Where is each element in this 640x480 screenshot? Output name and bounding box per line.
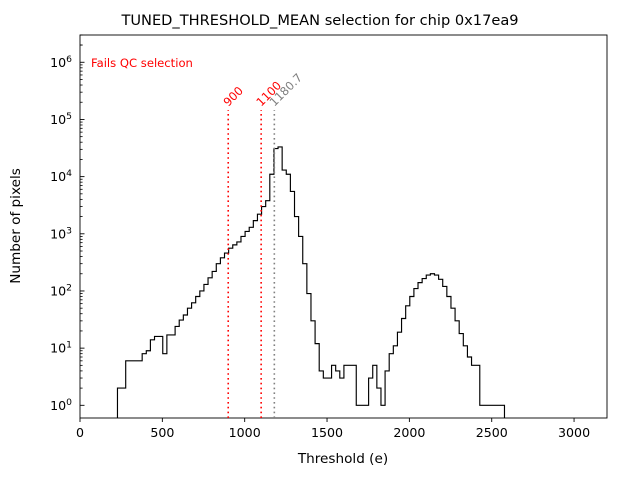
histogram-step-curve — [117, 147, 504, 418]
y-axis-ticks: 100101102103104105106 — [50, 54, 84, 413]
x-tick-label: 500 — [150, 425, 174, 440]
vertical-cut-lines: 90011001180.7 — [220, 71, 305, 418]
chart-figure: TUNED_THRESHOLD_MEAN selection for chip … — [0, 0, 640, 480]
plot-canvas: 050010001500200025003000 100101102103104… — [0, 0, 640, 480]
x-tick-label: 2500 — [476, 425, 508, 440]
y-tick-label: 105 — [50, 111, 72, 127]
x-tick-label: 2000 — [393, 425, 425, 440]
y-tick-label: 103 — [50, 225, 72, 241]
x-tick-label: 0 — [76, 425, 84, 440]
x-axis-label: Threshold (e) — [297, 451, 388, 467]
qc-annotation-text: Fails QC selection — [91, 56, 193, 70]
y-tick-label: 102 — [50, 282, 72, 298]
plot-frame — [80, 35, 607, 418]
x-axis-ticks: 050010001500200025003000 — [76, 418, 590, 440]
y-tick-label: 100 — [50, 397, 72, 413]
x-tick-label: 3000 — [558, 425, 590, 440]
vline-label-lower-cut: 900 — [220, 84, 246, 110]
y-tick-label: 104 — [50, 168, 72, 184]
x-tick-label: 1000 — [229, 425, 261, 440]
y-tick-label: 106 — [50, 54, 72, 70]
y-tick-label: 101 — [50, 340, 72, 356]
y-axis-label: Number of pixels — [8, 168, 24, 284]
x-tick-label: 1500 — [311, 425, 343, 440]
